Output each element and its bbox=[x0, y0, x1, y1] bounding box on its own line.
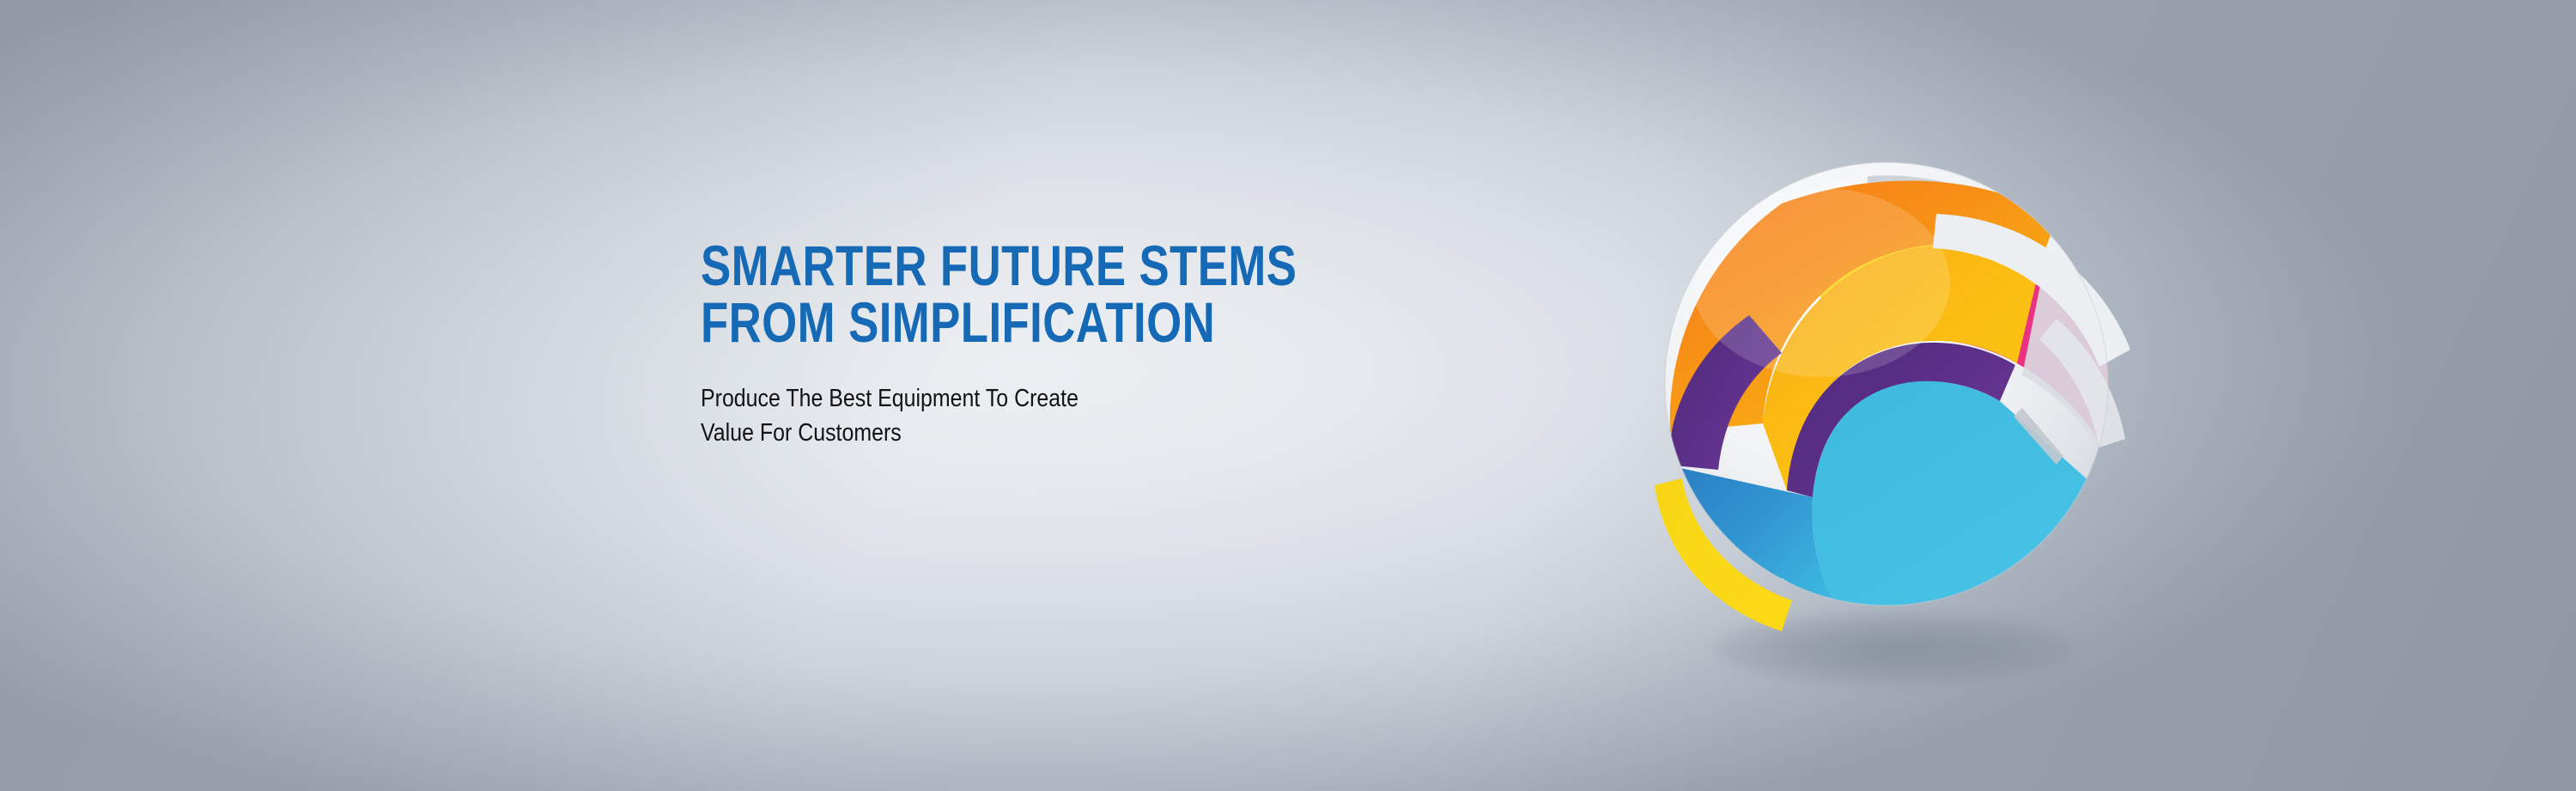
hero-copy-block: Smarter Future Stems From Simplification… bbox=[701, 237, 1559, 450]
page-title: Smarter Future Stems From Simplification bbox=[701, 237, 1388, 350]
ribbon-globe-graphic bbox=[1653, 150, 2134, 631]
subtitle-line-2: Value For Customers bbox=[701, 416, 1439, 450]
headline-line-2: From Simplification bbox=[701, 294, 1388, 350]
globe-icon bbox=[1653, 150, 2134, 631]
hero-subtitle: Produce The Best Equipment To Create Val… bbox=[701, 350, 1439, 450]
hero-banner: Smarter Future Stems From Simplification… bbox=[0, 0, 2576, 791]
globe-highlight bbox=[1692, 188, 1950, 377]
headline-line-1: Smarter Future Stems bbox=[701, 237, 1388, 294]
globe-green-shade bbox=[2057, 504, 2127, 599]
subtitle-line-1: Produce The Best Equipment To Create bbox=[701, 381, 1439, 416]
